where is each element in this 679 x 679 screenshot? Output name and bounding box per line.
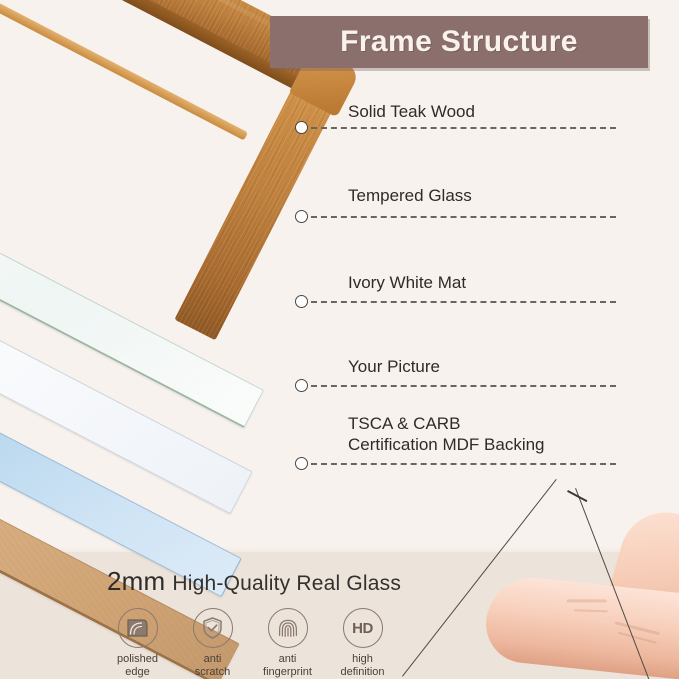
callout-line-tempered-glass (311, 216, 616, 218)
callout-dot-ivory-white-mat[interactable] (295, 295, 308, 308)
feature-icon-row: polished edge anti scratch (100, 608, 400, 679)
callout-label-your-picture: Your Picture (348, 356, 440, 377)
hd-glyph: HD (352, 620, 373, 637)
glass-description: High-Quality Real Glass (172, 572, 401, 596)
callout-line-mdf-backing (311, 463, 616, 465)
exploded-frame-illustration (0, 0, 350, 560)
callout-dot-mdf-backing[interactable] (295, 457, 308, 470)
glass-thickness: 2mm (107, 566, 165, 597)
page-title: Frame Structure (340, 25, 578, 59)
feature-polished-edge[interactable]: polished edge (100, 608, 175, 679)
callout-label-solid-teak-wood: Solid Teak Wood (348, 101, 475, 122)
glass-spec-line: 2mm High-Quality Real Glass (107, 566, 401, 597)
callout-line-solid-teak-wood (311, 127, 616, 129)
feature-caption: anti fingerprint (263, 653, 312, 679)
title-banner: Frame Structure (270, 16, 648, 68)
feature-anti-fingerprint[interactable]: anti fingerprint (250, 608, 325, 679)
polished-edge-icon (118, 608, 158, 648)
feature-high-definition[interactable]: HD high definition (325, 608, 400, 679)
knuckle-crease-2 (574, 609, 608, 612)
infographic-canvas: Frame Structure Solid Teak Wood Tempered… (0, 0, 679, 679)
feature-anti-scratch[interactable]: anti scratch (175, 608, 250, 679)
callout-line-your-picture (311, 385, 616, 387)
callout-label-ivory-white-mat: Ivory White Mat (348, 272, 466, 293)
knuckle-crease-1 (567, 599, 607, 602)
callout-dot-solid-teak-wood[interactable] (295, 121, 308, 134)
callout-label-mdf-backing: TSCA & CARB Certification MDF Backing (348, 413, 545, 455)
callout-dot-your-picture[interactable] (295, 379, 308, 392)
knuckle-crease-4 (618, 632, 657, 644)
hand-holding-glass-photo (398, 470, 679, 679)
callout-dot-tempered-glass[interactable] (295, 210, 308, 223)
feature-caption: high definition (340, 653, 384, 679)
shield-check-icon (193, 608, 233, 648)
callout-label-tempered-glass: Tempered Glass (348, 185, 472, 206)
feature-caption: anti scratch (195, 653, 230, 679)
hd-icon: HD (343, 608, 383, 648)
callout-line-ivory-white-mat (311, 301, 616, 303)
feature-caption: polished edge (117, 653, 158, 679)
fingerprint-icon (268, 608, 308, 648)
index-finger (482, 573, 679, 679)
